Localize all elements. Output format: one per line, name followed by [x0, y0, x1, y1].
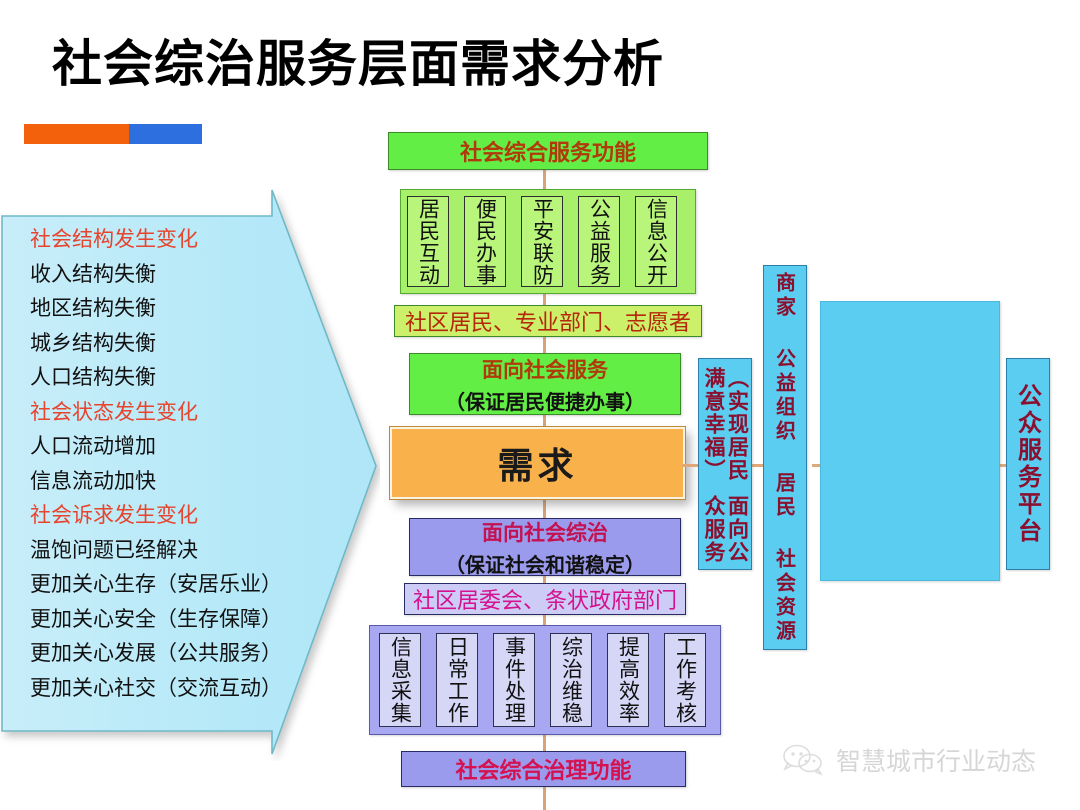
title-accent-bar	[24, 124, 202, 144]
list-item: 城乡结构失衡	[30, 326, 350, 361]
governance-facing-sub: （保证社会和谐稳定）	[445, 549, 645, 578]
public-service-column: （实现居民满意幸福） 面向公众服务	[698, 358, 752, 570]
accent-segment-blue	[129, 124, 202, 144]
wechat-icon	[782, 743, 826, 777]
list-item: 更加关心发展（公共服务）	[30, 636, 350, 671]
platform-column: 公众服务平台	[1006, 358, 1050, 570]
list-item: 社会结构发生变化	[30, 222, 350, 257]
service-function-cell[interactable]: 便民办事	[464, 196, 506, 287]
service-function-cell[interactable]: 信息公开	[635, 196, 677, 287]
governance-actors-box: 社区居委会、条状政府部门	[404, 583, 686, 615]
service-facing-title: 面向社会服务	[482, 354, 608, 384]
governance-function-cell[interactable]: 信息采集	[379, 633, 421, 727]
list-item: 更加关心安全（生存保障）	[30, 602, 350, 637]
governance-function-cell[interactable]: 工作考核	[664, 633, 706, 727]
service-facing-sub: （保证居民便捷办事）	[445, 386, 645, 415]
drivers-arrow: 社会结构发生变化 收入结构失衡 地区结构失衡 城乡结构失衡 人口结构失衡 社会状…	[0, 186, 380, 761]
public-service-title: 面向公众服务	[701, 490, 748, 569]
list-item: 人口流动增加	[30, 429, 350, 464]
list-item: 社会诉求发生变化	[30, 498, 350, 533]
governance-function-cell[interactable]: 综治维稳	[550, 633, 592, 727]
page-title: 社会综治服务层面需求分析	[52, 38, 664, 91]
watermark-text: 智慧城市行业动态	[836, 742, 1036, 778]
service-actors-box: 社区居民、专业部门、志愿者	[394, 305, 702, 337]
governance-footer-box: 社会综合治理功能	[401, 751, 686, 787]
service-function-cell[interactable]: 公益服务	[578, 196, 620, 287]
service-branch-header: 社会综合服务功能	[388, 132, 708, 170]
watermark: 智慧城市行业动态	[782, 742, 1036, 778]
list-item: 信息流动加快	[30, 464, 350, 499]
governance-function-cell[interactable]: 提高效率	[607, 633, 649, 727]
list-item: 收入结构失衡	[30, 257, 350, 292]
core-demand-box: 需求	[390, 427, 685, 499]
resources-column: 商家 公益组织 居民 社会资源	[763, 265, 807, 650]
governance-function-cell[interactable]: 日常工作	[436, 633, 478, 727]
drivers-list: 社会结构发生变化 收入结构失衡 地区结构失衡 城乡结构失衡 人口结构失衡 社会状…	[30, 222, 350, 705]
service-function-cell[interactable]: 居民互动	[407, 196, 449, 287]
service-facing-box: 面向社会服务 （保证居民便捷办事）	[409, 353, 681, 415]
service-function-cell[interactable]: 平安联防	[521, 196, 563, 287]
slide-canvas: 社会综治服务层面需求分析 社会结构发生变化 收入结构失衡 地区结构失衡 城	[0, 0, 1080, 810]
list-item: 温饱问题已经解决	[30, 533, 350, 568]
list-item: 地区结构失衡	[30, 291, 350, 326]
list-item: 社会状态发生变化	[30, 395, 350, 430]
governance-facing-title: 面向社会综治	[482, 517, 608, 547]
services-panel: 健康服务 商业服务 物业服务 小区服务 家政服务	[820, 301, 1000, 581]
list-item: 更加关心生存（安居乐业）	[30, 567, 350, 602]
public-service-sub: （实现居民满意幸福）	[701, 359, 748, 490]
governance-facing-box: 面向社会综治 （保证社会和谐稳定）	[409, 518, 681, 576]
list-item: 人口结构失衡	[30, 360, 350, 395]
governance-function-cell[interactable]: 事件处理	[493, 633, 535, 727]
accent-segment-orange	[24, 124, 129, 144]
list-item: 更加关心社交（交流互动）	[30, 671, 350, 706]
